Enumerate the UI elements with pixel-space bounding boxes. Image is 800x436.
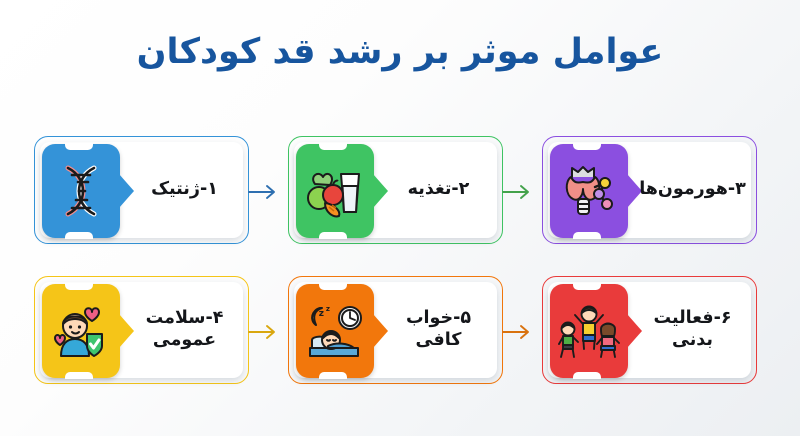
icon-tile-sleep: z z <box>296 284 374 378</box>
icon-tile-genetics <box>42 144 120 238</box>
icon-tile-physical-activity <box>550 284 628 378</box>
card-slot-5: z z <box>288 276 503 384</box>
dna-helix-icon <box>42 144 120 238</box>
card-slot-6: ۶-فعالیت بدنی <box>542 276 757 384</box>
health-shield-person-icon <box>42 284 120 378</box>
card-inner-panel: ۲-تغذیه <box>294 142 497 238</box>
card-inner-panel: ۳-هورمون‌ها <box>548 142 751 238</box>
infographic-canvas: عوامل موثر بر رشد قد کودکان <box>0 0 800 436</box>
vegetables-and-milk-icon <box>296 144 374 238</box>
factor-card-sleep[interactable]: z z <box>288 276 503 384</box>
card-slot-4: ۴-سلامت عمومی <box>34 276 249 384</box>
factor-card-physical-activity[interactable]: ۶-فعالیت بدنی <box>542 276 757 384</box>
card-inner-panel: ۶-فعالیت بدنی <box>548 282 751 378</box>
icon-pointer-arrow <box>373 174 388 208</box>
sleeping-child-moon-clock-icon: z z <box>296 284 374 378</box>
svg-text:z: z <box>326 305 330 313</box>
factor-card-hormones[interactable]: ۳-هورمون‌ها <box>542 136 757 244</box>
card-inner-panel: z z <box>294 282 497 378</box>
connector-arrow-5-to-6 <box>501 312 543 352</box>
icon-tile-hormones <box>550 144 628 238</box>
card-label-nutrition: ۲-تغذیه <box>392 142 485 238</box>
icon-pointer-arrow <box>627 314 642 348</box>
card-inner-panel: ۴-سلامت عمومی <box>40 282 243 378</box>
connector-arrow-1-to-2 <box>247 172 289 212</box>
connector-arrow-4-to-5 <box>247 312 289 352</box>
factor-card-general-health[interactable]: ۴-سلامت عمومی <box>34 276 249 384</box>
card-slot-2: ۲-تغذیه <box>288 136 503 244</box>
card-inner-panel: ۱-ژنتیک <box>40 142 243 238</box>
svg-text:z: z <box>319 309 324 319</box>
card-label-physical-activity: ۶-فعالیت بدنی <box>646 282 739 378</box>
icon-pointer-arrow <box>119 174 134 208</box>
icon-tile-nutrition <box>296 144 374 238</box>
thyroid-hormone-molecule-icon <box>550 144 628 238</box>
icon-pointer-arrow <box>119 314 134 348</box>
card-slot-3: ۳-هورمون‌ها <box>542 136 757 244</box>
card-label-sleep: ۵-خواب کافی <box>392 282 485 378</box>
factor-cards-grid: ۱-ژنتیک <box>34 136 766 384</box>
active-children-icon <box>550 284 628 378</box>
icon-tile-general-health <box>42 284 120 378</box>
card-label-general-health: ۴-سلامت عمومی <box>138 282 231 378</box>
card-label-genetics: ۱-ژنتیک <box>138 142 231 238</box>
page-title: عوامل موثر بر رشد قد کودکان <box>0 32 800 72</box>
factor-card-nutrition[interactable]: ۲-تغذیه <box>288 136 503 244</box>
card-slot-1: ۱-ژنتیک <box>34 136 249 244</box>
card-label-hormones: ۳-هورمون‌ها <box>646 142 739 238</box>
connector-arrow-2-to-3 <box>501 172 543 212</box>
factor-card-genetics[interactable]: ۱-ژنتیک <box>34 136 249 244</box>
icon-pointer-arrow <box>373 314 388 348</box>
